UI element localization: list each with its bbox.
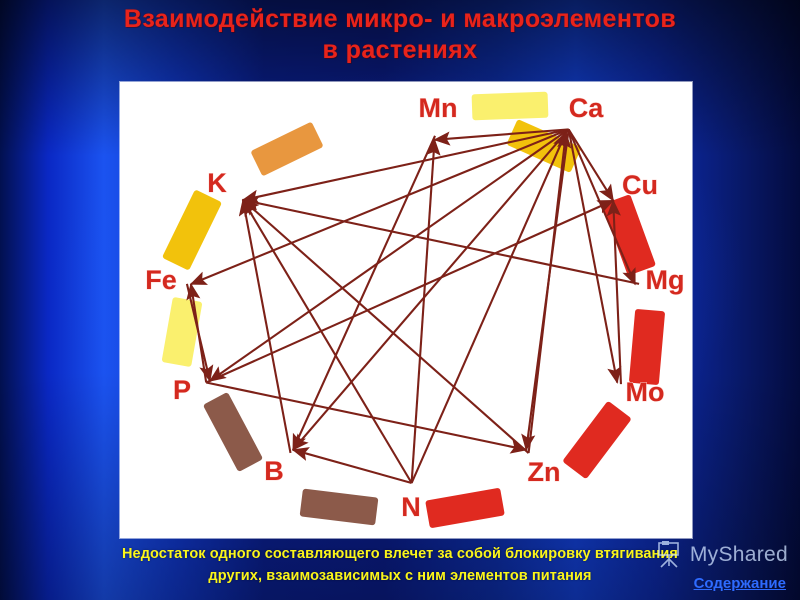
arrow-ca-to-b — [293, 129, 569, 449]
element-label-mg: Mg — [646, 265, 685, 295]
arrow-p-to-zn — [206, 382, 526, 449]
segment-zn-n — [425, 488, 505, 529]
arrow-zn-to-ca — [529, 132, 566, 453]
segment-cu-mg — [602, 194, 656, 276]
element-label-mn: Mn — [419, 93, 458, 123]
arrow-p-to-cu — [206, 201, 613, 383]
element-label-zn: Zn — [528, 457, 561, 487]
segment-k-mn — [250, 122, 323, 177]
element-label-b: B — [264, 456, 284, 486]
segment-n-b — [300, 488, 379, 525]
element-label-k: K — [207, 168, 227, 198]
interaction-arrows-group — [187, 129, 639, 483]
diagram-panel: MnCaCuMgMoZnNBPFeK — [120, 82, 692, 538]
segment-mn-ca — [472, 92, 549, 121]
element-label-mo: Mo — [626, 377, 665, 407]
caption-text: Недостаток одного составляющего влечет з… — [0, 543, 800, 587]
element-label-cu: Cu — [622, 170, 658, 200]
segment-b-p — [203, 392, 263, 472]
table-of-contents-link[interactable]: Содержание — [694, 575, 786, 592]
element-label-ca: Ca — [569, 93, 604, 123]
element-label-n: N — [401, 492, 421, 522]
element-label-p: P — [173, 375, 191, 405]
page-title: Взаимодействие микро- и макроэлементов в… — [0, 4, 800, 66]
segment-p-fe — [161, 297, 202, 367]
element-label-fe: Fe — [145, 265, 177, 295]
segment-mo-zn — [562, 401, 632, 480]
element-interaction-diagram: MnCaCuMgMoZnNBPFeK — [120, 82, 692, 538]
segment-mg-mo — [629, 309, 665, 385]
arrow-mg-to-k — [243, 200, 639, 284]
segment-fe-k — [162, 189, 222, 270]
